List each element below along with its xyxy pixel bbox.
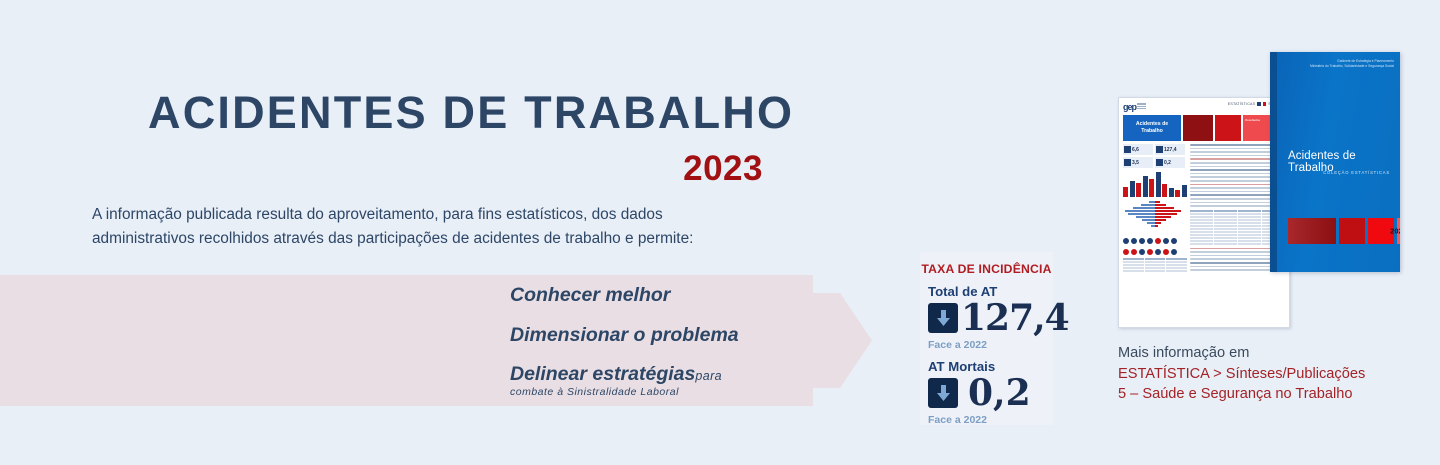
more-info-label: Mais informação em <box>1118 343 1418 364</box>
cover-year: 2023 <box>1390 227 1400 236</box>
stats-heading: TAXA DE INCIDÊNCIA <box>920 252 1053 276</box>
more-info-links: Mais informação em ESTATÍSTICA > Síntese… <box>1118 343 1418 405</box>
infographic-banner: ACIDENTES DE TRABALHO 2023 A informação … <box>0 0 1440 465</box>
sheet-tag-square-red <box>1263 102 1267 106</box>
page-title: ACIDENTES DE TRABALHO <box>148 90 768 135</box>
kpi-icon <box>1156 146 1163 153</box>
cover-header: Gabinete de Estratégia e Planeamento Min… <box>1310 59 1394 69</box>
arrow-banner-text: Conhecer melhor Dimensionar o problema D… <box>510 286 840 398</box>
sheet-kpi-grid: 6,6 127,4 3,5 0,2 <box>1123 144 1187 168</box>
arrow-line-3-small: para <box>695 369 722 383</box>
sheet-banner-title-l2: Trabalho <box>1141 128 1163 135</box>
sheet-dot-row <box>1123 238 1187 244</box>
sheet-left-column: 6,6 127,4 3,5 0,2 <box>1123 144 1187 273</box>
arrow-line-3-main: Delinear estratégias <box>510 363 695 385</box>
sheet-left-table <box>1123 258 1187 272</box>
arrow-line-3: Delinear estratégiaspara <box>510 365 840 385</box>
kpi-icon <box>1124 159 1131 166</box>
sheet-kpi: 127,4 <box>1155 144 1185 155</box>
intro-line-1: A informação publicada resulta do aprove… <box>92 203 844 227</box>
sheet-header: gep ESTATÍSTICAS SÍNTESE <box>1123 102 1285 112</box>
link-saude-seguranca[interactable]: 5 – Saúde e Segurança no Trabalho <box>1118 384 1418 405</box>
title-block: ACIDENTES DE TRABALHO 2023 <box>148 90 768 189</box>
sheet-banner: Acidentes de Trabalho Resultados 2023 <box>1123 115 1285 141</box>
incidence-rate-panel: TAXA DE INCIDÊNCIA Total de AT 127,4 Fac… <box>920 252 1053 425</box>
intro-paragraph: A informação publicada resulta do aprove… <box>92 203 844 251</box>
stat-foot-total: Face a 2022 <box>920 339 1053 351</box>
sheet-banner-note: Resultados <box>1245 118 1260 122</box>
gep-logo-icon: gep <box>1123 102 1146 112</box>
infographic-sheet-thumbnail[interactable]: gep ESTATÍSTICAS SÍNTESE Acidentes de Tr… <box>1118 97 1290 328</box>
publication-cover-thumbnail[interactable]: Gabinete de Estratégia e Planeamento Min… <box>1270 52 1400 272</box>
sheet-banner-title: Acidentes de Trabalho <box>1123 115 1181 141</box>
sheet-banner-block-2 <box>1215 115 1241 141</box>
sheet-dot-row <box>1123 249 1187 255</box>
page-year: 2023 <box>148 149 768 189</box>
sheet-kpi: 3,5 <box>1123 157 1153 168</box>
sheet-banner-block-1 <box>1183 115 1213 141</box>
kpi-icon <box>1124 146 1131 153</box>
arrow-line-1: Conhecer melhor <box>510 286 840 306</box>
sheet-population-pyramid <box>1123 201 1187 233</box>
cover-subtitle: COLEÇÃO ESTATÍSTICAS <box>1323 170 1390 175</box>
stat-foot-mortais: Face a 2022 <box>920 414 1053 426</box>
link-estatistica[interactable]: ESTATÍSTICA > Sínteses/Publicações <box>1118 364 1418 385</box>
cover-block-year: 2023 <box>1397 218 1400 244</box>
arrow-down-icon <box>928 378 958 408</box>
gep-logo-text: gep <box>1123 102 1136 112</box>
sheet-kpi: 0,2 <box>1155 157 1185 168</box>
kpi-value: 0,2 <box>1164 160 1171 166</box>
kpi-value: 3,5 <box>1132 160 1139 166</box>
sheet-kpi: 6,6 <box>1123 144 1153 155</box>
sheet-banner-title-l1: Acidentes de <box>1136 121 1168 128</box>
arrow-down-icon <box>928 303 958 333</box>
pyramid-right <box>1155 201 1187 233</box>
stat-row-mortais: 0,2 <box>920 375 1053 411</box>
sheet-tag-square-blue <box>1257 102 1261 106</box>
arrow-subtext: combate à Sinistralidade Laboral <box>510 387 840 399</box>
kpi-value: 127,4 <box>1164 147 1177 153</box>
cover-spine <box>1270 52 1277 272</box>
sheet-body: 6,6 127,4 3,5 0,2 <box>1123 144 1285 273</box>
sheet-bar-chart <box>1123 171 1187 197</box>
sheet-tag-estatisticas: ESTATÍSTICAS <box>1228 102 1255 106</box>
stat-value-total: 127,4 <box>961 300 1069 336</box>
intro-line-2: administrativos recolhidos através das p… <box>92 227 844 251</box>
kpi-value: 6,6 <box>1132 147 1139 153</box>
kpi-icon <box>1156 159 1163 166</box>
cover-block-1 <box>1288 218 1336 244</box>
gep-logo-bars <box>1137 103 1146 110</box>
cover-block-2 <box>1339 218 1365 244</box>
arrow-line-2: Dimensionar o problema <box>510 326 840 346</box>
cover-color-blocks: 2023 <box>1288 218 1400 244</box>
pyramid-left <box>1123 201 1155 233</box>
stat-row-total: 127,4 <box>920 300 1053 336</box>
stat-value-mortais: 0,2 <box>968 375 1031 411</box>
cover-header-line-2: Ministério do Trabalho, Solidariedade e … <box>1310 64 1394 69</box>
